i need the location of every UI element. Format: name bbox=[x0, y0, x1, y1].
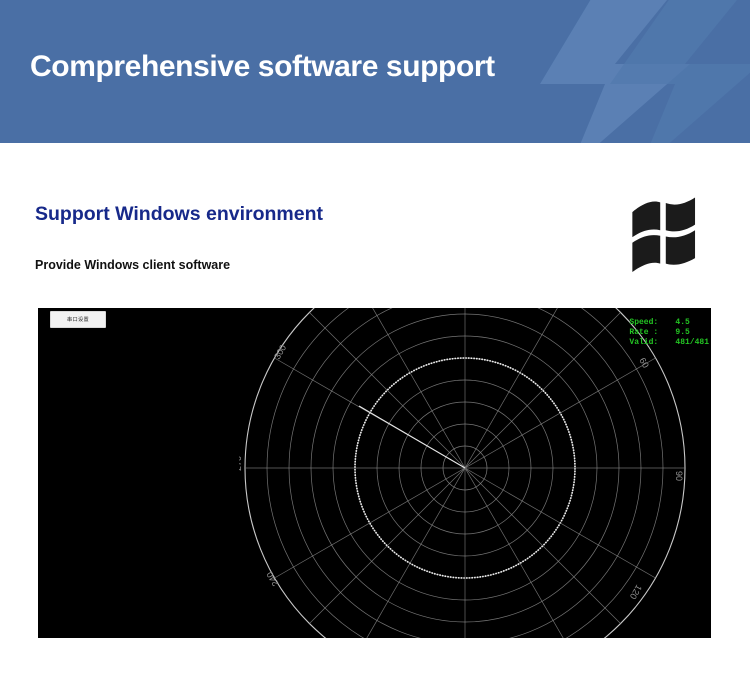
rate-value: 9.5 bbox=[675, 328, 689, 337]
serial-settings-tab-button[interactable]: 串口设置 bbox=[50, 311, 106, 328]
radar-status-panel: Speed:4.5 Rate :9.5 Valid:481/481 bbox=[629, 308, 709, 358]
radar-polar-plot: 30 60 90 120 150 180 210 240 270 300 330… bbox=[239, 308, 691, 638]
svg-text:270: 270 bbox=[239, 456, 243, 471]
speed-value: 4.5 bbox=[675, 318, 689, 327]
svg-text:240: 240 bbox=[265, 570, 281, 588]
valid-label: Valid: bbox=[629, 338, 675, 348]
lightning-bolt-icon bbox=[450, 0, 750, 143]
section-subtitle: Provide Windows client software bbox=[35, 258, 230, 272]
section-title: Support Windows environment bbox=[35, 203, 323, 226]
speed-label: Speed: bbox=[629, 318, 675, 328]
valid-value: 481/481 bbox=[675, 338, 709, 347]
svg-text:120: 120 bbox=[628, 583, 644, 601]
page-header: Comprehensive software support bbox=[0, 0, 750, 143]
rate-label: Rate : bbox=[629, 328, 675, 338]
lightning-bolt-decoration bbox=[450, 0, 750, 143]
page-title: Comprehensive software support bbox=[30, 50, 495, 84]
svg-text:90: 90 bbox=[674, 471, 684, 481]
windows-logo-icon bbox=[628, 194, 698, 272]
svg-text:300: 300 bbox=[272, 343, 288, 361]
application-screenshot: 串口设置 30 60 90 bbox=[38, 308, 711, 638]
